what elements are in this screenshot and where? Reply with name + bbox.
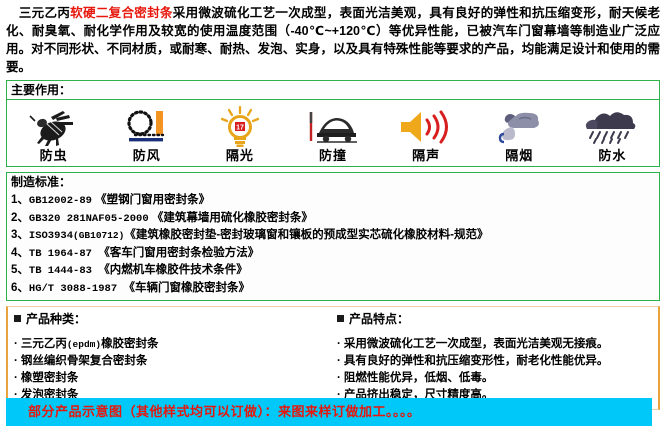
wind-icon bbox=[116, 106, 178, 148]
product-type-text: 三元乙丙 bbox=[21, 338, 67, 350]
function-item-fangchong[interactable]: 防虫 bbox=[7, 100, 100, 166]
standard-name: 《建筑幕墙用硫化橡胶密封条》 bbox=[152, 212, 313, 224]
footer-banner-text: 部分产品示意图（其他样式均可以订做）：来图来样订做加工。。。。 bbox=[6, 398, 652, 426]
product-type-item: ·钢丝编织骨架复合密封条 bbox=[14, 353, 331, 370]
standard-name: 《内燃机车橡胶件技术条件》 bbox=[98, 264, 248, 276]
bullet-dot-icon: · bbox=[337, 355, 341, 367]
bullet-square-icon bbox=[14, 315, 21, 322]
intro-highlight: 软硬二复合密封条 bbox=[70, 6, 173, 20]
function-item-fangfeng[interactable]: 防风 bbox=[100, 100, 193, 166]
product-type-text: 橡塑密封条 bbox=[21, 372, 79, 384]
speaker-sound-icon bbox=[395, 106, 457, 148]
standard-code: ISO3934 bbox=[29, 230, 73, 242]
standard-number: 4、 bbox=[11, 247, 29, 259]
function-label: 防虫 bbox=[40, 148, 68, 164]
product-types-title-text: 产品种类： bbox=[26, 312, 86, 326]
function-label: 防风 bbox=[133, 148, 161, 164]
function-item-fangshui[interactable]: 防水 bbox=[566, 100, 659, 166]
product-features-title-text: 产品特点： bbox=[349, 312, 409, 326]
standard-number: 3、 bbox=[11, 229, 29, 241]
lightbulb-icon: 17 bbox=[209, 106, 271, 148]
product-types-column: 产品种类： ·三元乙丙(epdm)橡胶密封条 ·钢丝编织骨架复合密封条 ·橡塑密… bbox=[8, 307, 335, 409]
function-item-geyan[interactable]: 隔烟 bbox=[473, 100, 566, 166]
function-item-geguang[interactable]: 17 隔光 bbox=[193, 100, 286, 166]
standard-row: 1、GB12002-89 《塑钢门窗用密封条》 bbox=[11, 192, 655, 210]
function-label: 防水 bbox=[598, 148, 626, 164]
standard-number: 1、 bbox=[11, 194, 29, 206]
product-feature-item: ·具有良好的弹性和抗压缩变形性，耐老化性能优异。 bbox=[337, 353, 654, 370]
bullet-square-icon bbox=[337, 315, 344, 322]
function-item-fangzhuang[interactable]: 防撞 bbox=[286, 100, 379, 166]
rain-cloud-icon bbox=[581, 106, 643, 148]
product-feature-text: 阻燃性能优异，低烟、低毒。 bbox=[344, 372, 494, 384]
standard-number: 6、 bbox=[11, 282, 29, 294]
product-feature-item: ·阻燃性能优异，低烟、低毒。 bbox=[337, 370, 654, 387]
function-item-gesheng[interactable]: 隔声 bbox=[380, 100, 473, 166]
intro-paragraph: 三元乙丙软硬二复合密封条采用微波硫化工艺一次成型，表面光洁美观，具有良好的弹性和… bbox=[0, 0, 666, 78]
product-features-title: 产品特点： bbox=[337, 312, 654, 327]
product-type-text: 钢丝编织骨架复合密封条 bbox=[21, 355, 148, 367]
standard-row: 6、HG/T 3088-1987 《车辆门窗橡胶密封条》 bbox=[11, 280, 655, 298]
standard-code: HG/T 3088-1987 bbox=[29, 283, 117, 295]
standard-number: 2、 bbox=[11, 212, 29, 224]
standard-row: 5、TB 1444-83 《内燃机车橡胶件技术条件》 bbox=[11, 262, 655, 280]
product-features-column: 产品特点： ·采用微波硫化工艺一次成型，表面光洁美观无接痕。 ·具有良好的弹性和… bbox=[335, 307, 658, 409]
function-label: 隔光 bbox=[226, 148, 254, 164]
standard-row: 4、TB 1964-87 《客车门窗用密封条检验方法》 bbox=[11, 245, 655, 263]
product-types-title: 产品种类： bbox=[14, 312, 331, 327]
product-feature-text: 具有良好的弹性和抗压缩变形性，耐老化性能优异。 bbox=[344, 355, 609, 367]
standard-code: TB 1444-83 bbox=[29, 265, 92, 277]
bullet-dot-icon: · bbox=[14, 372, 18, 384]
standard-row: 3、ISO3934(GB10712)《建筑橡胶密封垫-密封玻璃窗和镶板的预成型实… bbox=[11, 227, 655, 245]
standard-row: 2、GB320 281NAF05-2000 《建筑幕墙用硫化橡胶密封条》 bbox=[11, 210, 655, 228]
standards-list: 1、GB12002-89 《塑钢门窗用密封条》 2、GB320 281NAF05… bbox=[7, 191, 659, 300]
car-impact-icon bbox=[302, 106, 364, 148]
standard-name: 《塑钢门窗用密封条》 bbox=[95, 194, 210, 206]
functions-icon-strip: 防虫 防风 bbox=[7, 99, 659, 166]
product-info-box: 产品种类： ·三元乙丙(epdm)橡胶密封条 ·钢丝编织骨架复合密封条 ·橡塑密… bbox=[6, 306, 660, 410]
standard-code: GB12002-89 bbox=[29, 195, 92, 207]
intro-text-part1: 三元乙丙 bbox=[6, 6, 70, 20]
product-type-latin: (epdm) bbox=[67, 339, 101, 350]
smoke-cloud-icon bbox=[488, 106, 550, 148]
functions-panel-title: 主要作用： bbox=[7, 81, 659, 99]
product-feature-item: ·采用微波硫化工艺一次成型，表面光洁美观无接痕。 bbox=[337, 336, 654, 353]
product-type-text-post: 橡胶密封条 bbox=[101, 338, 159, 350]
standard-name: 《建筑橡胶密封垫-密封玻璃窗和镶板的预成型实芯硫化橡胶材料-规范》 bbox=[124, 229, 488, 241]
standard-code: TB 1964-87 bbox=[29, 248, 92, 260]
bullet-dot-icon: · bbox=[14, 338, 18, 350]
standards-panel-title: 制造标准： bbox=[7, 173, 659, 191]
function-label: 隔声 bbox=[412, 148, 440, 164]
product-feature-text: 采用微波硫化工艺一次成型，表面光洁美观无接痕。 bbox=[344, 338, 609, 350]
bullet-dot-icon: · bbox=[14, 355, 18, 367]
product-type-item: ·三元乙丙(epdm)橡胶密封条 bbox=[14, 336, 331, 353]
function-label: 隔烟 bbox=[505, 148, 533, 164]
standard-name: 《客车门窗用密封条检验方法》 bbox=[98, 247, 259, 259]
bullet-dot-icon: · bbox=[337, 338, 341, 350]
standard-code-sub: (GB10712) bbox=[73, 230, 124, 241]
standard-code: GB320 281NAF05-2000 bbox=[29, 213, 149, 225]
standards-panel: 制造标准： 1、GB12002-89 《塑钢门窗用密封条》 2、GB320 28… bbox=[6, 172, 660, 301]
beetle-icon bbox=[23, 106, 85, 148]
functions-panel: 主要作用： bbox=[6, 80, 660, 167]
function-label: 防撞 bbox=[319, 148, 347, 164]
svg-text:17: 17 bbox=[236, 125, 244, 132]
bullet-dot-icon: · bbox=[337, 372, 341, 384]
standard-name: 《车辆门窗橡胶密封条》 bbox=[124, 282, 251, 294]
standard-number: 5、 bbox=[11, 264, 29, 276]
footer-banner: 部分产品示意图（其他样式均可以订做）：来图来样订做加工。。。。 bbox=[6, 398, 652, 426]
product-type-item: ·橡塑密封条 bbox=[14, 370, 331, 387]
